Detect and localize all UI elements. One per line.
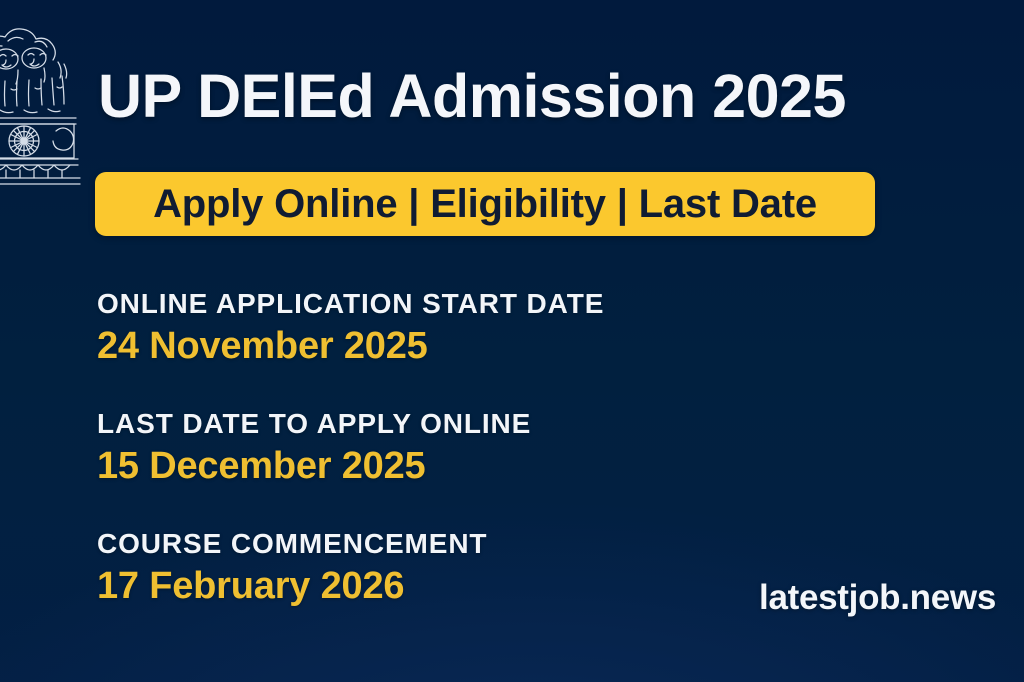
date-value: 17 February 2026 (97, 567, 487, 607)
date-block-course-commencement: COURSE COMMENCEMENT 17 February 2026 (97, 529, 487, 607)
india-national-emblem-icon (0, 18, 92, 190)
site-watermark: latestjob.news (759, 578, 996, 618)
date-label: LAST DATE TO APPLY ONLINE (97, 409, 531, 438)
apply-info-badge[interactable]: Apply Online | Eligibility | Last Date (95, 172, 875, 236)
poster-canvas: UP DElEd Admission 2025 Apply Online | E… (0, 0, 1024, 682)
date-value: 24 November 2025 (97, 327, 604, 367)
date-block-application-start: ONLINE APPLICATION START DATE 24 Novembe… (97, 289, 604, 367)
date-label: COURSE COMMENCEMENT (97, 529, 487, 558)
date-value: 15 December 2025 (97, 447, 531, 487)
date-block-last-date-apply: LAST DATE TO APPLY ONLINE 15 December 20… (97, 409, 531, 487)
apply-info-badge-label: Apply Online | Eligibility | Last Date (153, 182, 817, 227)
date-label: ONLINE APPLICATION START DATE (97, 289, 604, 318)
page-title: UP DElEd Admission 2025 (98, 66, 846, 127)
